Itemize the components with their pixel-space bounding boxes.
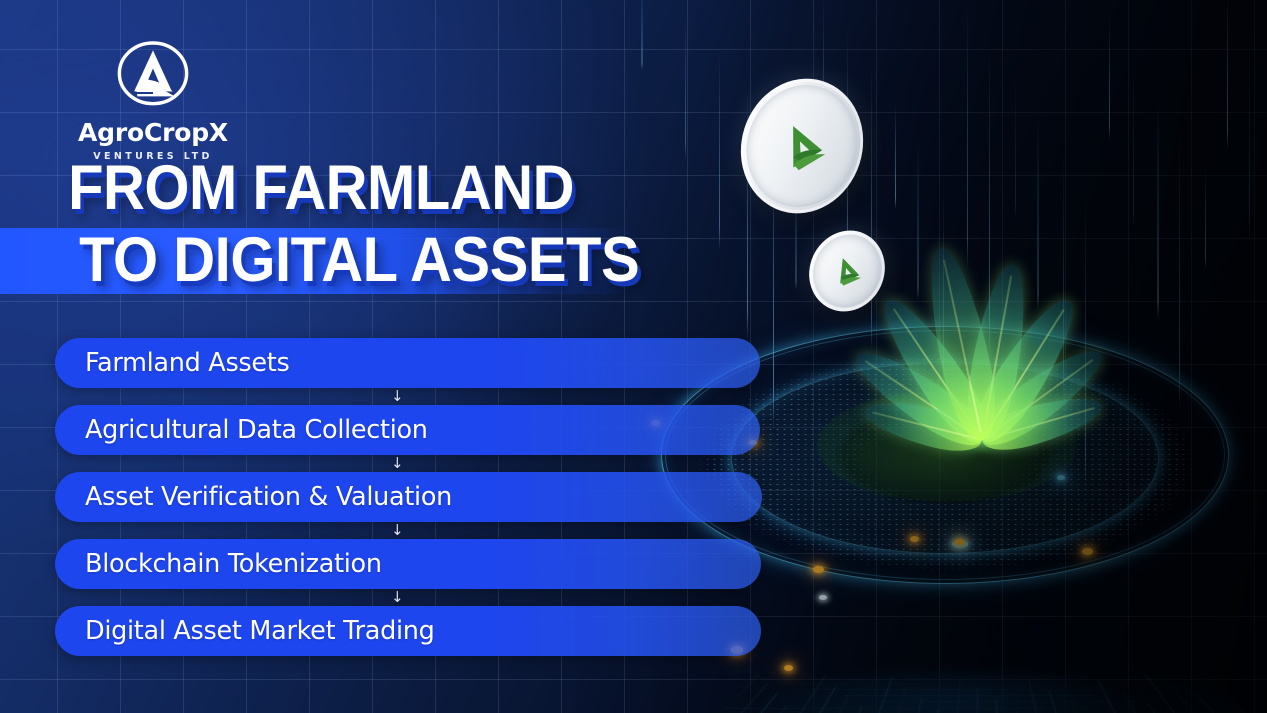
step-connector-arrow-icon: ↓ [55, 589, 765, 606]
process-step-4[interactable]: Blockchain Tokenization [55, 539, 761, 589]
brand-name: AgroCropX [58, 118, 248, 147]
coin-logo-icon [822, 244, 871, 298]
step-connector-arrow-icon: ↓ [55, 522, 765, 539]
poster-canvas: AgroCropX VENTURES LTD FROM FARMLAND TO … [0, 0, 1267, 713]
process-flow-list: Farmland Assets↓Agricultural Data Collec… [55, 338, 765, 656]
headline-line-2: TO DIGITAL ASSETS [0, 224, 718, 296]
page-title: FROM FARMLAND TO DIGITAL ASSETS [0, 152, 780, 296]
process-step-1[interactable]: Farmland Assets [55, 338, 760, 388]
process-step-2[interactable]: Agricultural Data Collection [55, 405, 760, 455]
process-step-label: Farmland Assets [55, 348, 289, 378]
headline-line-1-row: FROM FARMLAND [0, 152, 780, 224]
process-step-label: Asset Verification & Valuation [55, 482, 452, 512]
headline-line-2-row: TO DIGITAL ASSETS [0, 224, 780, 296]
process-step-label: Blockchain Tokenization [55, 549, 382, 579]
process-step-label: Agricultural Data Collection [55, 415, 428, 445]
step-connector-arrow-icon: ↓ [55, 455, 765, 472]
process-step-label: Digital Asset Market Trading [55, 616, 435, 646]
process-step-5[interactable]: Digital Asset Market Trading [55, 606, 761, 656]
brand-lockup: AgroCropX VENTURES LTD [58, 34, 248, 162]
process-step-3[interactable]: Asset Verification & Valuation [55, 472, 762, 522]
headline-line-1: FROM FARMLAND [0, 152, 718, 224]
step-connector-arrow-icon: ↓ [55, 388, 765, 405]
agrocropx-circle-mountain-logo-icon [112, 34, 194, 116]
